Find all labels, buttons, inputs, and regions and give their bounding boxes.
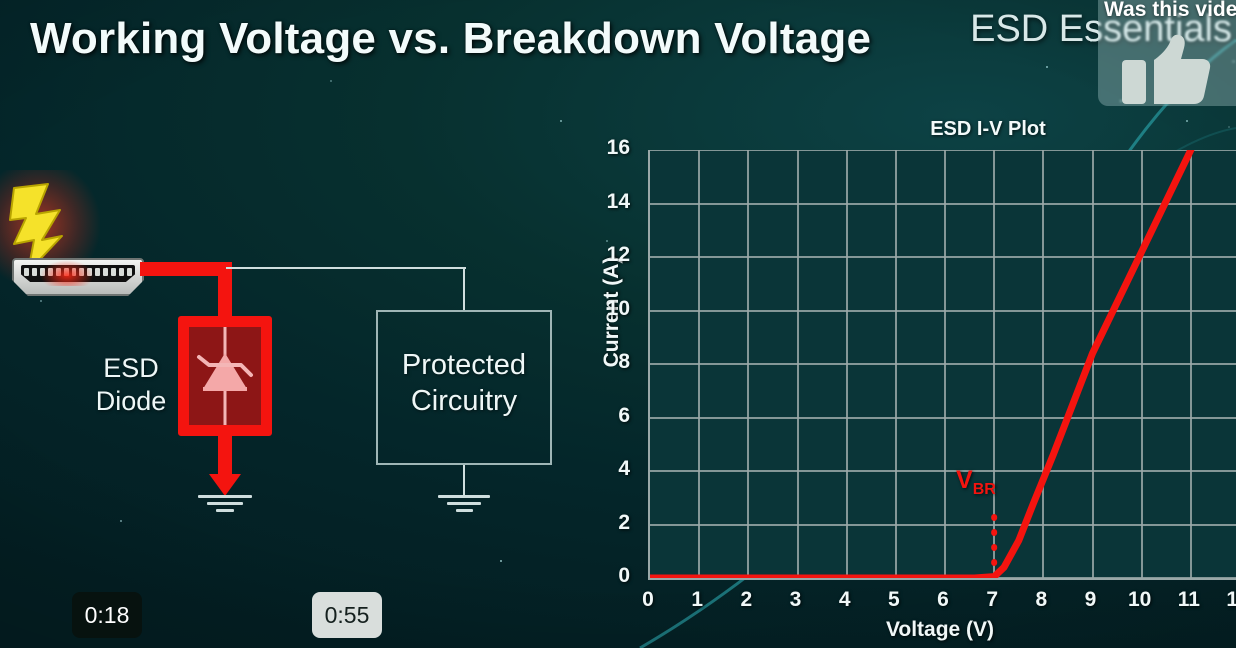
survey-question: Was this video: [1104, 0, 1236, 22]
protected-circuitry-label: Protected Circuitry: [376, 348, 552, 419]
y-tick-label: 6: [590, 404, 630, 428]
screenshot-root: Working Voltage vs. Breakdown Voltage ES…: [0, 0, 1236, 648]
hdmi-connector-icon: [12, 258, 144, 296]
wire-input-horizontal: [140, 262, 226, 276]
chart-title: ESD I-V Plot: [848, 118, 1128, 141]
x-tick-label: 5: [877, 588, 911, 612]
x-tick-label: 9: [1074, 588, 1108, 612]
timestamp-badge-total[interactable]: 0:55: [312, 592, 382, 638]
chart-x-axis: [648, 578, 1236, 580]
x-tick-label: 3: [779, 588, 813, 612]
y-tick-label: 2: [590, 511, 630, 535]
x-tick-label: 4: [828, 588, 862, 612]
youtube-survey-overlay[interactable]: Was this video: [1098, 0, 1236, 106]
y-tick-label: 14: [590, 190, 630, 214]
esd-diode-label: ESD Diode: [86, 352, 176, 418]
chart-plot-area: [648, 150, 1236, 578]
x-tick-label: 10: [1123, 588, 1157, 612]
y-tick-label: 12: [590, 243, 630, 267]
x-tick-label: 2: [729, 588, 763, 612]
page-title: Working Voltage vs. Breakdown Voltage: [30, 14, 871, 64]
x-tick-label: 8: [1024, 588, 1058, 612]
esd-diode-component: [178, 316, 272, 436]
x-tick-label: 7: [975, 588, 1009, 612]
series-line: [650, 150, 1191, 578]
wire-signal-drop: [463, 267, 465, 312]
breakdown-voltage-annotation: VBR: [956, 466, 996, 499]
y-tick-label: 8: [590, 350, 630, 374]
x-tick-label: 11: [1172, 588, 1206, 612]
esd-iv-chart: ESD I-V Plot Current (A) Voltage (V) 024…: [580, 110, 1236, 648]
y-tick-label: 10: [590, 297, 630, 321]
thumbs-up-icon[interactable]: [1122, 34, 1212, 106]
y-tick-label: 16: [590, 136, 630, 160]
connector-pins: [24, 268, 132, 276]
wire-signal-horizontal: [226, 267, 466, 269]
y-tick-label: 0: [590, 564, 630, 588]
x-tick-label: 6: [926, 588, 960, 612]
ground-symbol-protected: [438, 495, 490, 516]
current-arrow-icon: [205, 468, 245, 498]
wire-to-diode: [218, 262, 232, 324]
chart-x-axis-label: Voltage (V): [830, 618, 1050, 642]
esd-protection-circuit-diagram: ESD Diode Protected Circuitry: [0, 150, 600, 550]
x-tick-label: 1: [680, 588, 714, 612]
x-tick-label: 12: [1221, 588, 1236, 612]
timestamp-badge-current[interactable]: 0:18: [72, 592, 142, 638]
y-tick-label: 4: [590, 457, 630, 481]
wire-protected-to-ground: [463, 465, 465, 495]
chart-series-curve: [650, 150, 1236, 578]
ground-symbol-diode: [198, 495, 252, 516]
x-tick-label: 0: [631, 588, 665, 612]
